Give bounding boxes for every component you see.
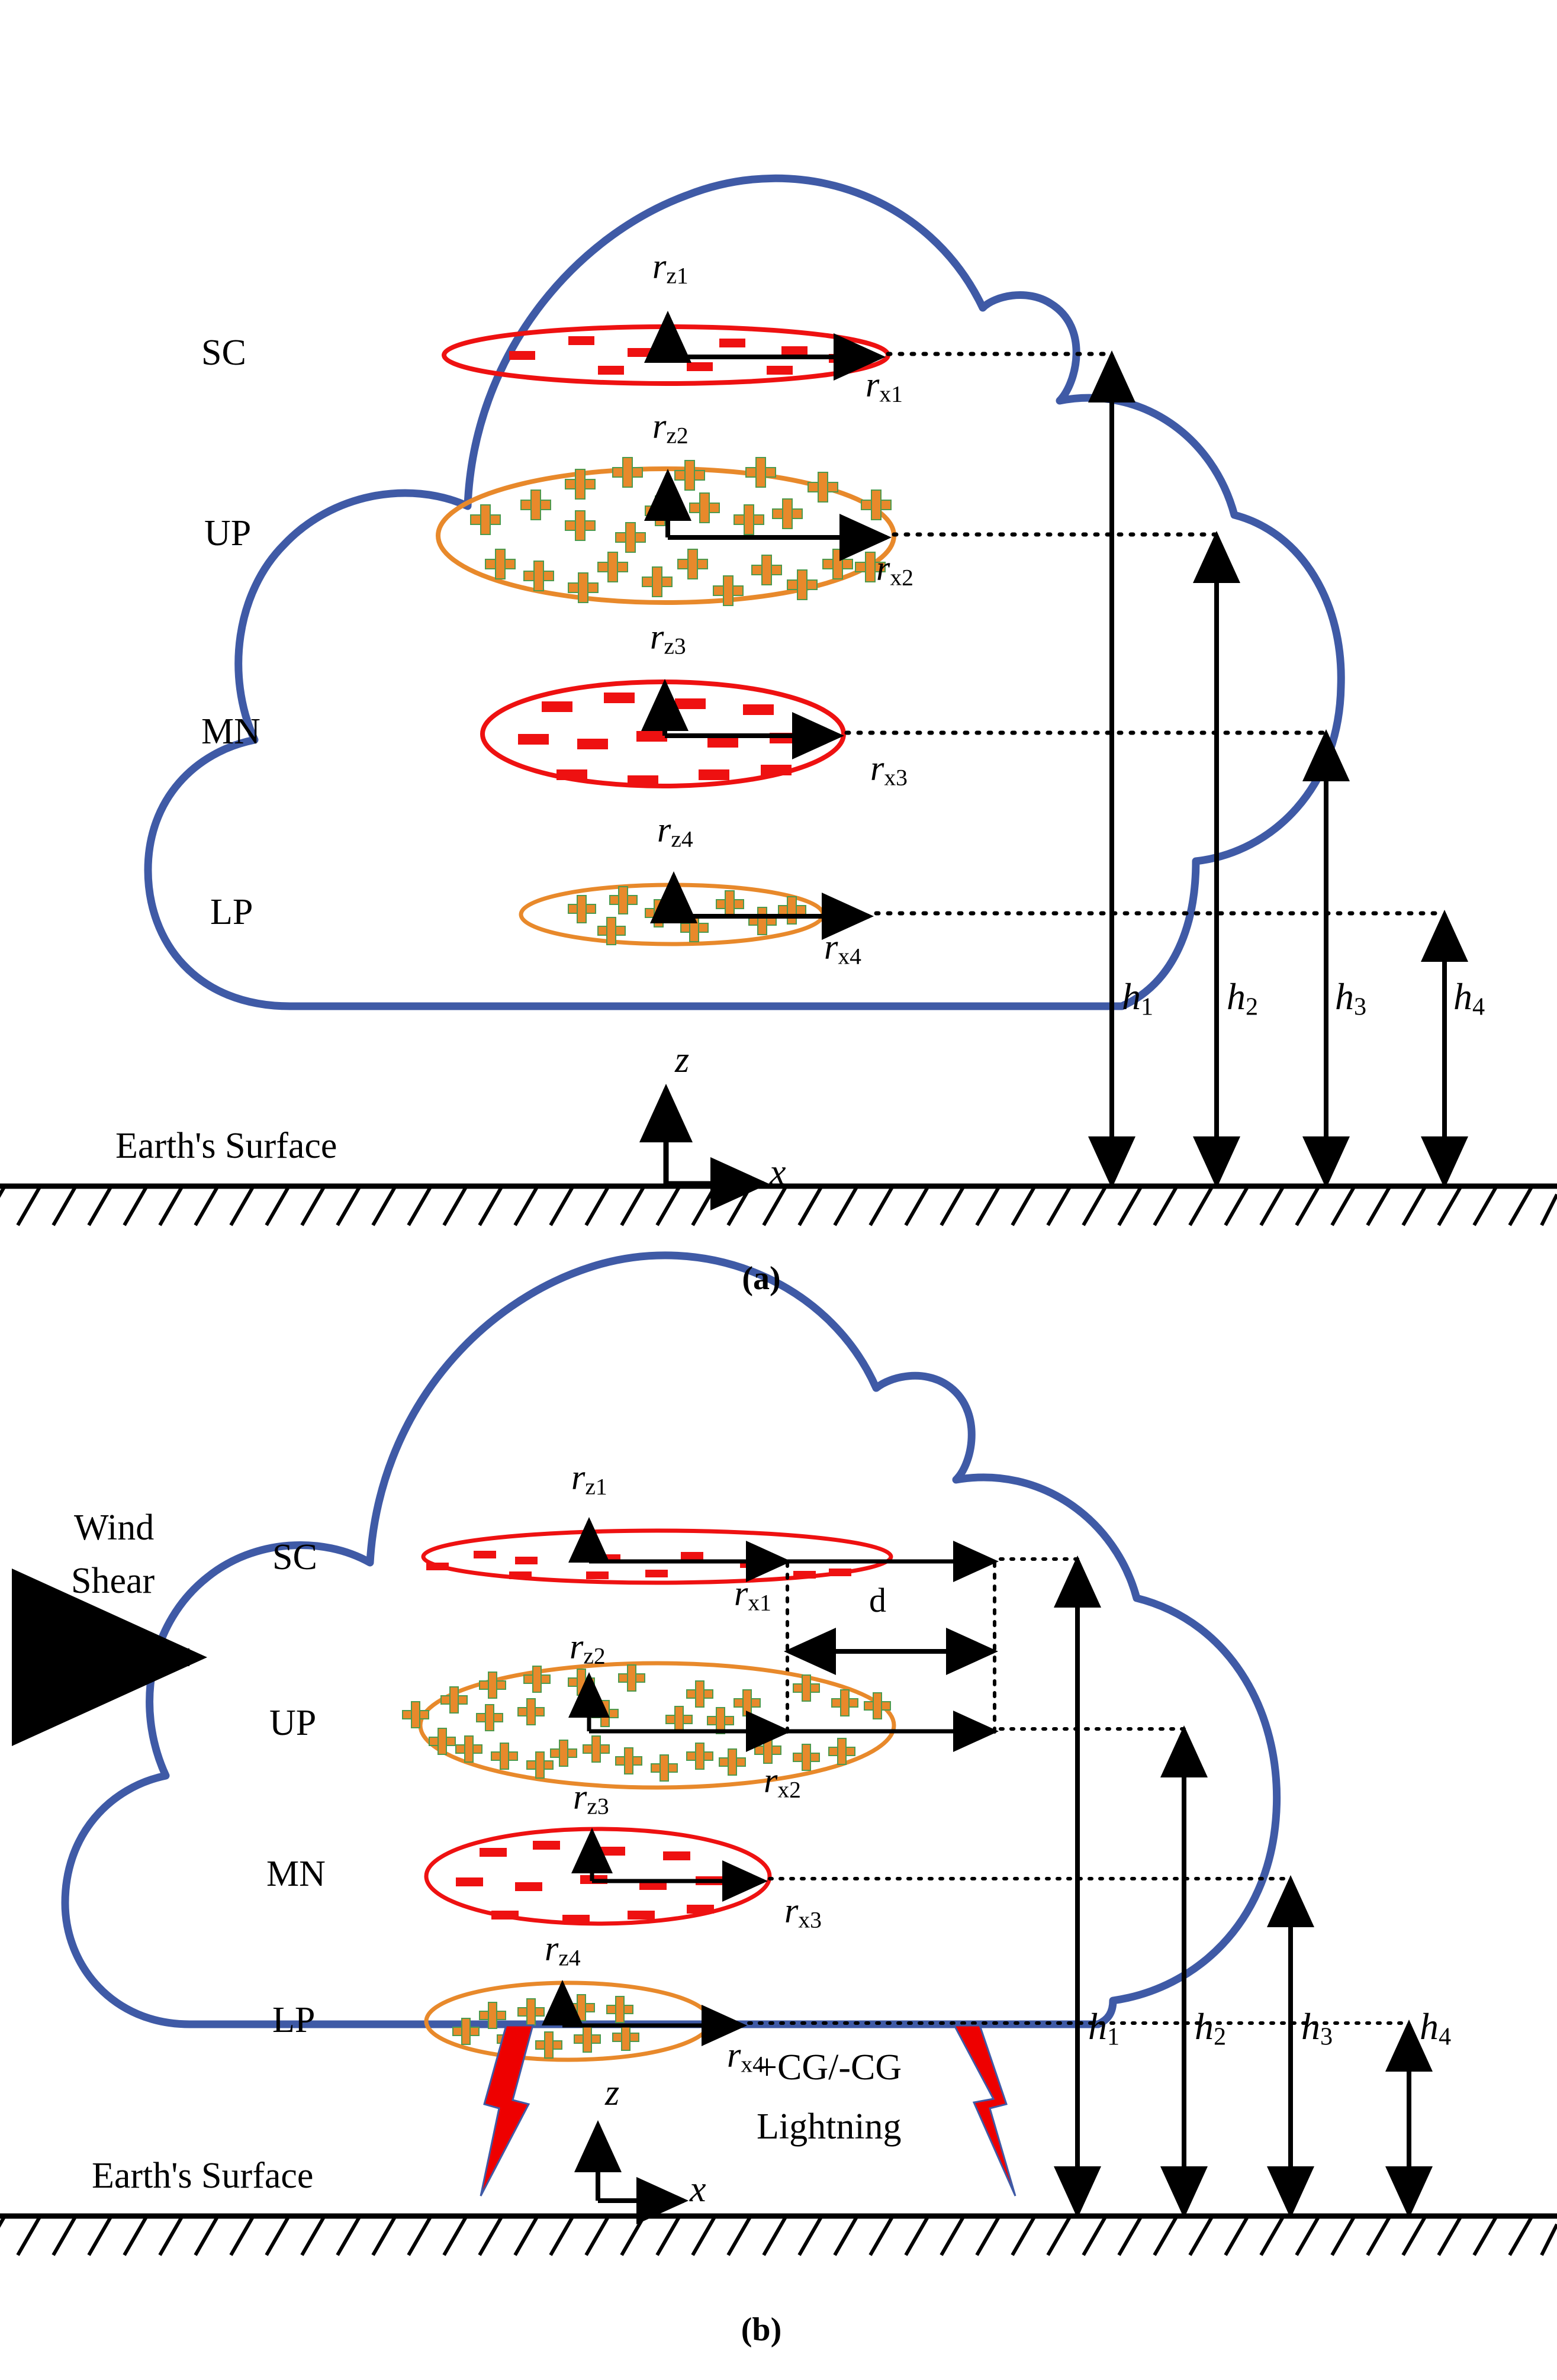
height-label-h1-a: h1 xyxy=(1122,978,1153,1020)
wind-shear-label-line2: Shear xyxy=(71,1563,155,1599)
panel-caption-a: (a) xyxy=(742,1262,780,1295)
panel-caption-b: (b) xyxy=(741,2313,781,2346)
ground-label-b: Earth's Surface xyxy=(92,2157,313,2194)
height-label-h4-b: h4 xyxy=(1420,2008,1451,2050)
region-label-mn-a: MN xyxy=(201,713,260,750)
height-label-h3-b: h3 xyxy=(1301,2008,1333,2050)
region-label-lp-a: LP xyxy=(210,894,253,930)
z-axis-label-a: z xyxy=(675,1042,689,1078)
lightning-label: Lightning xyxy=(757,2108,902,2145)
lightning-bolt-left xyxy=(481,2025,533,2196)
x-axis-label-b: x xyxy=(690,2171,706,2208)
region-label-up-b: UP xyxy=(269,1705,316,1741)
height-label-h4-a: h4 xyxy=(1453,978,1485,1020)
cloud-outline-a xyxy=(148,178,1341,1006)
region-label-sc-b: SC xyxy=(272,1539,317,1576)
region-label-sc-a: SC xyxy=(201,334,246,371)
rz2-label-b: rz2 xyxy=(570,1629,606,1668)
rx2-label-b: rx2 xyxy=(764,1763,801,1802)
height-label-h2-a: h2 xyxy=(1227,978,1258,1020)
rz3-label-a: rz3 xyxy=(650,619,686,658)
region-label-up-a: UP xyxy=(204,515,251,552)
rz1-label-b: rz1 xyxy=(571,1460,607,1499)
cloud-outline-b xyxy=(65,1255,1277,2024)
region-label-mn-b: MN xyxy=(266,1856,326,1892)
rx3-label-b: rx3 xyxy=(784,1893,822,1932)
ground-label-a: Earth's Surface xyxy=(115,1128,337,1164)
rz4-label-a: rz4 xyxy=(657,812,693,851)
lightning-bolt-right xyxy=(954,2025,1015,2196)
rx1-label-a: rx1 xyxy=(866,367,903,406)
wind-shear-label-line1: Wind xyxy=(74,1509,154,1546)
rx2-label-a: rx2 xyxy=(876,550,913,590)
negative-charge-marks-mn-a xyxy=(518,693,800,786)
lightning-type-label: +CG/-CG xyxy=(757,2049,902,2086)
height-label-h3-a: h3 xyxy=(1335,978,1366,1020)
rx3-label-a: rx3 xyxy=(870,751,908,790)
z-axis-label-b: z xyxy=(605,2075,619,2111)
height-label-h2-b: h2 xyxy=(1195,2008,1226,2050)
offset-distance-label: d xyxy=(869,1583,886,1618)
rz2-label-a: rz2 xyxy=(652,408,689,447)
rz4-label-b: rz4 xyxy=(545,1931,581,1970)
panel-b xyxy=(0,1255,1557,2255)
figure-root: SC UP MN LP rz1 rx1 rz2 rx2 rz3 rx3 rz4 … xyxy=(0,0,1557,2380)
height-label-h1-b: h1 xyxy=(1088,2008,1120,2050)
rx4-label-a: rx4 xyxy=(824,929,861,968)
rz3-label-b: rz3 xyxy=(573,1779,609,1818)
ground-hatch-b xyxy=(0,2216,1557,2255)
rz1-label-a: rz1 xyxy=(652,249,689,288)
region-label-lp-b: LP xyxy=(272,2002,315,2038)
x-axis-label-a: x xyxy=(770,1154,786,1191)
rx1-label-b: rx1 xyxy=(734,1576,771,1615)
